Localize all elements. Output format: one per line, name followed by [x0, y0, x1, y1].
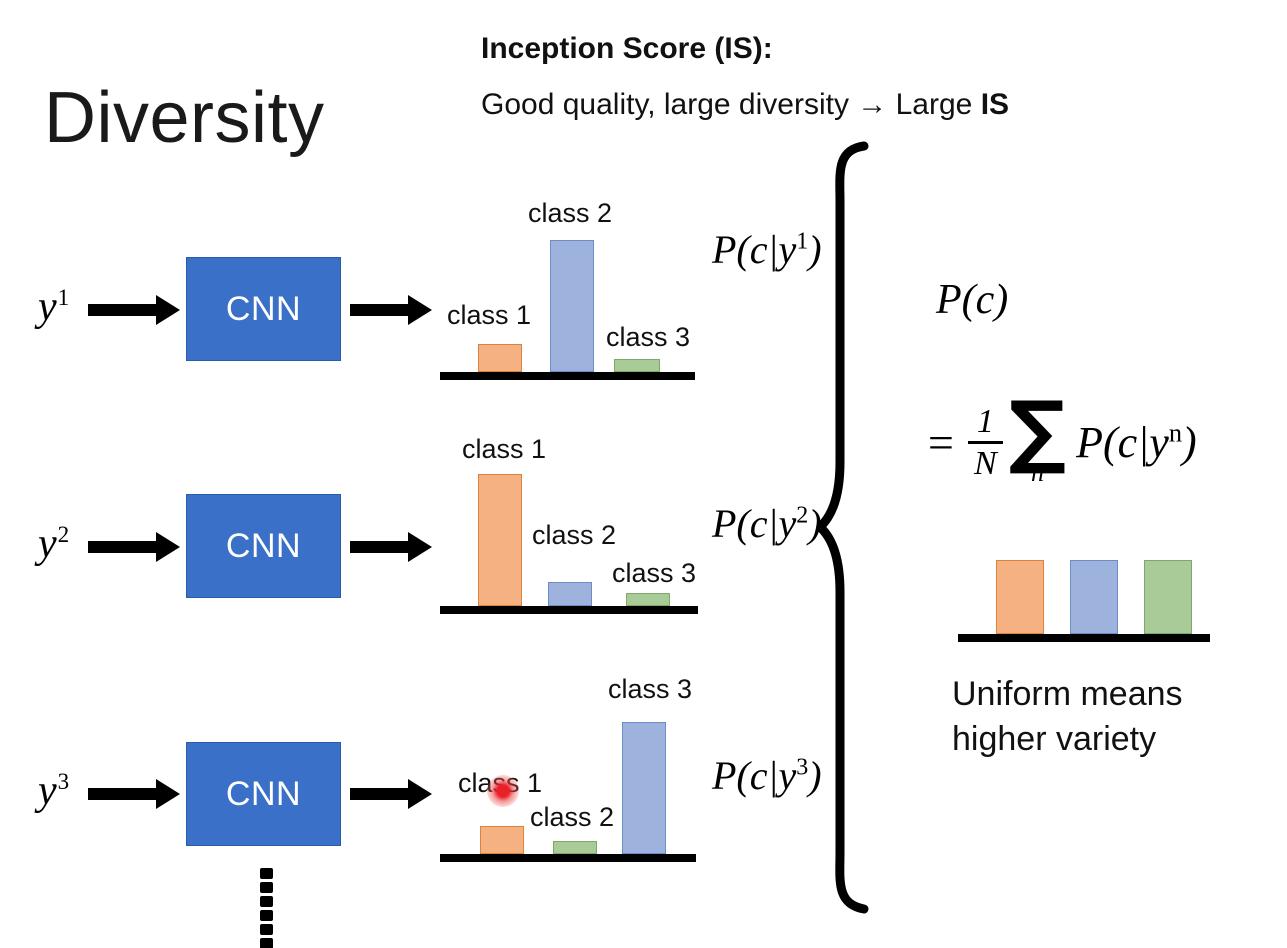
arrow-input-to-cnn-2 [88, 541, 158, 553]
input-label-y1: y1 [38, 283, 69, 331]
input-label-y2-superscript: 2 [58, 521, 70, 547]
sigma-icon: ∑ [1009, 398, 1066, 464]
ellipsis-dot [260, 882, 273, 893]
chart-1-label-class-1: class 1 [447, 300, 531, 331]
formula-denominator: N [968, 446, 1003, 482]
input-label-y3: y3 [38, 767, 69, 815]
chart-1-bar-class-3 [614, 359, 660, 372]
input-label-y1-base: y [38, 284, 57, 330]
chart-3-bar-class-3 [622, 722, 666, 854]
marginal-prob-label: P(c) [936, 276, 1008, 324]
formula-tail-close: ) [1182, 418, 1197, 467]
arrow-cnn-to-chart-3 [350, 788, 410, 800]
formula-fraction: 1 N [968, 404, 1003, 482]
inception-score-subtitle-text: Good quality, large diversity → Large [481, 88, 981, 121]
chart-1-bar-class-2 [550, 240, 594, 372]
ellipsis-dot [260, 910, 273, 921]
prob-label-y3-superscript: 3 [796, 755, 808, 781]
cnn-block-3: CNN [186, 742, 341, 846]
uniform-chart-baseline [958, 634, 1210, 642]
prob-label-y3-base: P(c|y [712, 753, 796, 798]
prob-label-y2: P(c|y2) [712, 500, 822, 547]
uniform-caption-line-1: Uniform means [952, 672, 1183, 717]
prob-label-y1-superscript: 1 [796, 229, 808, 255]
chart-3-label-class-3: class 3 [608, 674, 692, 705]
chart-3-bar-class-1 [480, 826, 524, 854]
input-label-y1-superscript: 1 [58, 284, 70, 310]
chart-1-label-class-3: class 3 [606, 322, 690, 353]
chart-p-c-given-y1: class 1 class 2 class 3 [440, 200, 700, 385]
formula-equals: = [925, 416, 956, 469]
grouping-brace [818, 140, 928, 915]
input-label-y2-base: y [38, 521, 57, 567]
chart-2-bar-class-2 [548, 582, 592, 606]
page-title: Diversity [44, 82, 325, 154]
prob-label-y3: P(c|y3) [712, 752, 822, 799]
chart-1-label-class-2: class 2 [528, 198, 612, 229]
inception-score-subtitle-bold: IS [981, 88, 1009, 121]
vertical-ellipsis [260, 868, 273, 948]
input-label-y3-base: y [38, 768, 57, 814]
formula-fraction-bar [968, 441, 1003, 444]
prob-label-y1-base: P(c|y [712, 227, 796, 272]
input-label-y3-superscript: 3 [58, 768, 70, 794]
inception-score-heading-suffix: (IS): [706, 32, 773, 65]
chart-3-bar-class-2 [553, 841, 597, 854]
arrow-cnn-to-chart-2 [350, 541, 410, 553]
chart-2-label-class-2: class 2 [532, 520, 616, 551]
inception-score-heading: Inception Score (IS): [481, 32, 773, 66]
cnn-block-3-label: CNN [226, 775, 301, 814]
uniform-bar-class-3 [1144, 560, 1192, 634]
cnn-block-2-label: CNN [226, 527, 301, 566]
uniform-caption-line-2: higher variety [952, 717, 1183, 762]
ellipsis-dot [260, 868, 273, 879]
formula-tail-base: P(c|y [1076, 418, 1169, 467]
inception-score-subtitle: Good quality, large diversity → Large IS [481, 88, 1009, 122]
cnn-block-2: CNN [186, 494, 341, 598]
prob-label-y2-base: P(c|y [712, 501, 796, 546]
chart-2-baseline [440, 606, 698, 614]
chart-2-label-class-1: class 1 [462, 434, 546, 465]
chart-2-label-class-3: class 3 [612, 558, 696, 589]
marginal-prob-formula: = 1 N ∑ n P(c|yn) [925, 398, 1197, 488]
chart-1-bar-class-1 [478, 344, 522, 372]
slide-canvas: Diversity Inception Score (IS): Good qua… [0, 0, 1287, 948]
prob-label-y1: P(c|y1) [712, 226, 822, 273]
chart-2-bar-class-1 [478, 474, 522, 606]
chart-marginal-uniform [958, 550, 1218, 645]
cnn-block-1-label: CNN [226, 290, 301, 329]
inception-score-heading-bold: Inception Score [481, 32, 706, 65]
formula-tail-superscript: n [1169, 418, 1182, 448]
arrow-input-to-cnn-3 [88, 788, 158, 800]
chart-p-c-given-y3: class 1 class 2 class 3 [440, 668, 705, 866]
ellipsis-dot [260, 924, 273, 935]
cursor-click-indicator [487, 775, 519, 807]
uniform-bar-class-1 [996, 560, 1044, 634]
formula-tail: P(c|yn) [1076, 417, 1197, 468]
formula-sum-index: n [1031, 458, 1044, 488]
input-label-y2: y2 [38, 520, 69, 568]
uniform-caption: Uniform means higher variety [952, 672, 1183, 762]
chart-3-baseline [440, 854, 696, 862]
ellipsis-dot [260, 896, 273, 907]
cnn-block-1: CNN [186, 257, 341, 361]
arrow-input-to-cnn-1 [88, 304, 158, 316]
uniform-bar-class-2 [1070, 560, 1118, 634]
prob-label-y2-superscript: 2 [796, 503, 808, 529]
chart-p-c-given-y2: class 1 class 2 class 3 [440, 434, 705, 619]
chart-3-label-class-2: class 2 [530, 802, 614, 833]
formula-numerator: 1 [971, 404, 1000, 440]
chart-2-bar-class-3 [626, 593, 670, 606]
chart-1-baseline [440, 372, 695, 380]
ellipsis-dot [260, 938, 273, 948]
formula-summation: ∑ n [1009, 398, 1066, 488]
arrow-cnn-to-chart-1 [350, 304, 410, 316]
